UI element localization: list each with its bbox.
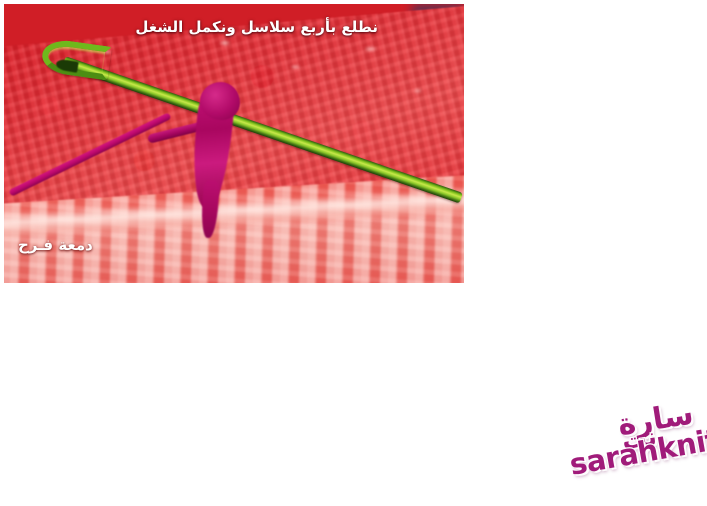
photo-caption-top: نطلع بأربع سلاسل ونكمل الشغل xyxy=(135,18,378,36)
magenta-yarn-knot xyxy=(200,82,240,120)
photo-caption-signature: دمعة فـرح xyxy=(18,236,93,254)
sarahknit-logo: سارة نت sarahknit xyxy=(566,396,702,496)
page-root: { "page": { "background_color": "#ffffff… xyxy=(0,0,707,506)
tutorial-photo: نطلع بأربع سلاسل ونكمل الشغل دمعة فـرح xyxy=(4,4,464,283)
